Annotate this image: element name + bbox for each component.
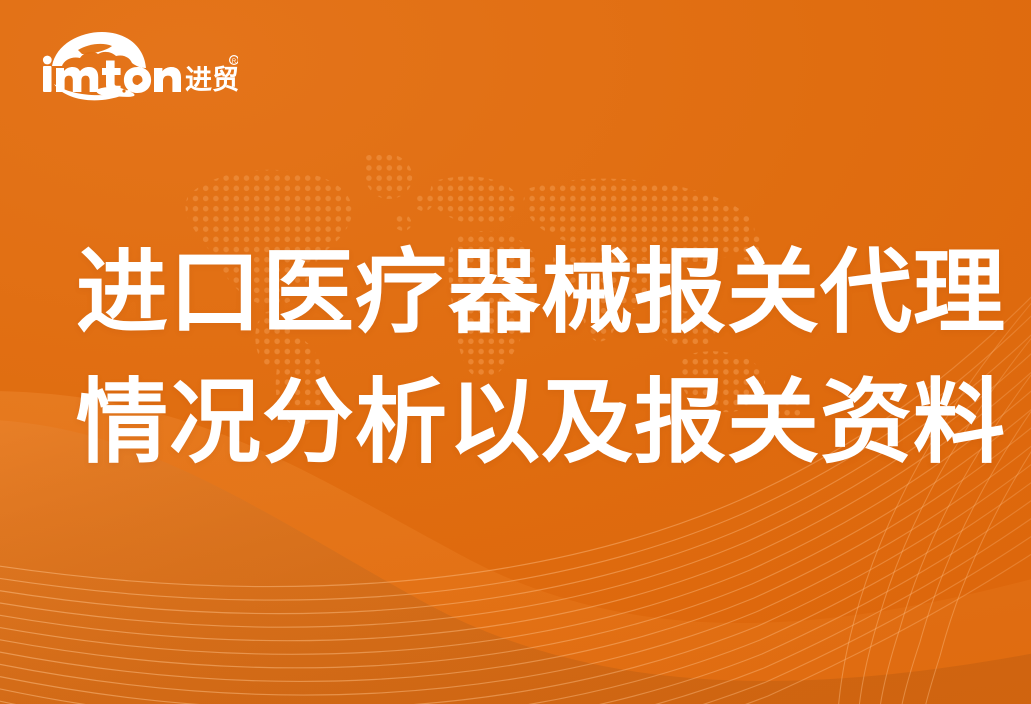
headline-line-1: 进口医疗器械报关代理 <box>76 228 976 358</box>
headline-line-2: 情况分析以及报关资料 <box>76 358 976 488</box>
logo-chinese-name: 进贸通 <box>185 65 238 95</box>
registered-trademark-icon: R <box>230 56 238 66</box>
svg-text:进贸通: 进贸通 <box>185 65 238 95</box>
imton-logo[interactable]: 进贸通 R <box>38 30 238 102</box>
banner-image: 进贸通 R 进口医疗器械报关代理 情况分析以及报关资料 <box>0 0 1031 704</box>
headline-block: 进口医疗器械报关代理 情况分析以及报关资料 <box>76 228 976 488</box>
svg-text:R: R <box>232 59 237 65</box>
